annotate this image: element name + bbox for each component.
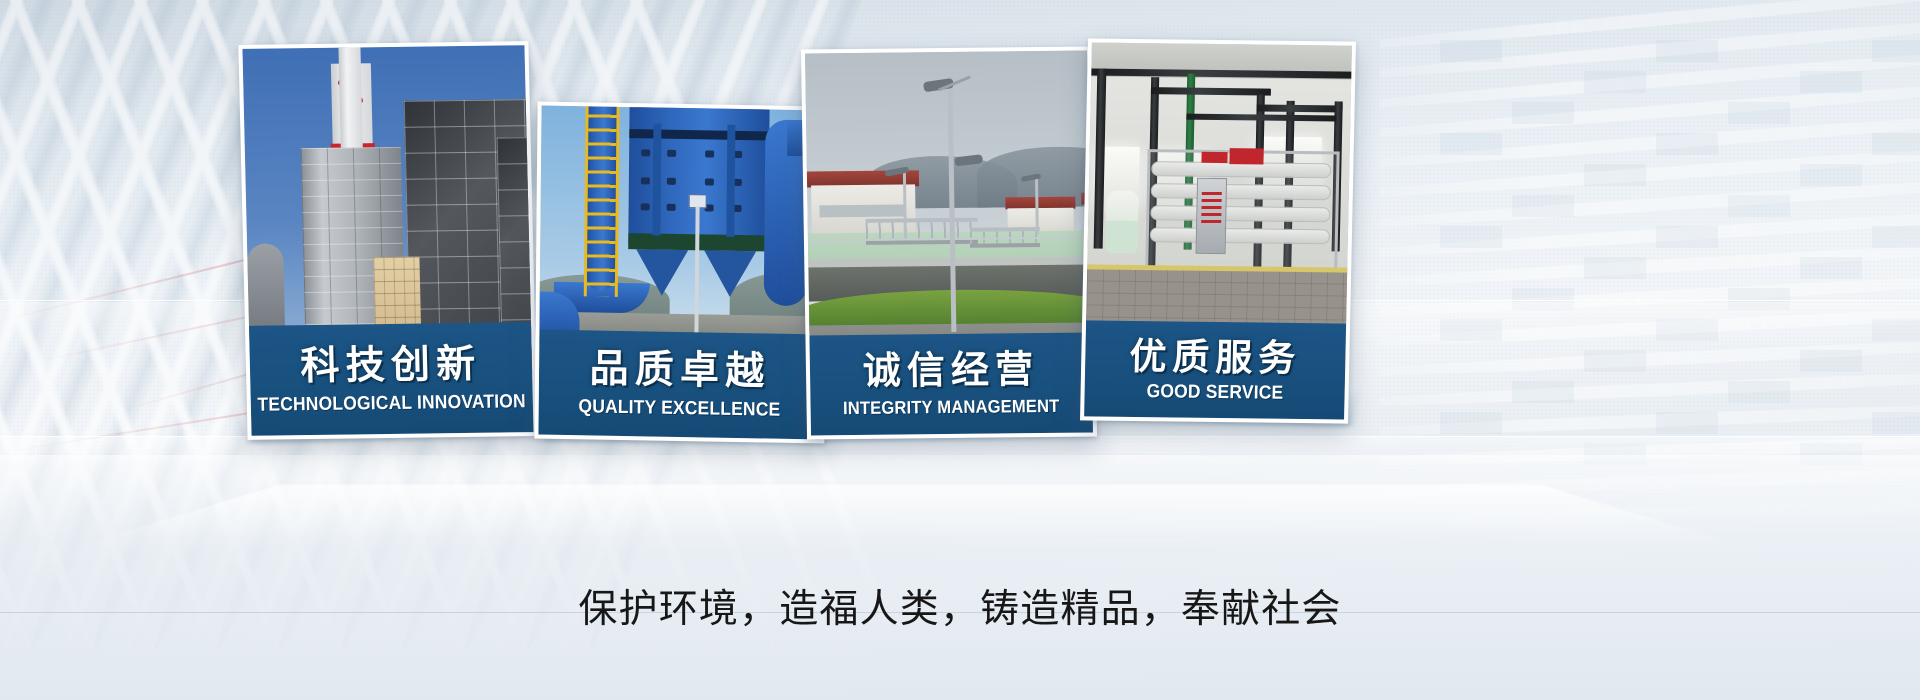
feature-card-good-service[interactable]: 优质服务 GOOD SERVICE bbox=[1080, 38, 1356, 423]
card-label-en: INTEGRITY MANAGEMENT bbox=[843, 397, 1060, 417]
card-label-cn: 科技创新 bbox=[300, 344, 482, 385]
card-label-en: GOOD SERVICE bbox=[1146, 382, 1283, 403]
card-label-en: QUALITY EXCELLENCE bbox=[579, 397, 781, 420]
card-label-en: TECHNOLOGICAL INNOVATION bbox=[257, 392, 526, 415]
feature-card-quality-excellence[interactable]: 品质卓越 QUALITY EXCELLENCE bbox=[534, 101, 827, 443]
card-label-bar: 科技创新 TECHNOLOGICAL INNOVATION bbox=[249, 322, 534, 436]
card-label-cn: 品质卓越 bbox=[589, 349, 770, 391]
feature-card-technological-innovation[interactable]: 科技创新 TECHNOLOGICAL INNOVATION bbox=[238, 41, 537, 440]
card-label-bar: 品质卓越 QUALITY EXCELLENCE bbox=[538, 330, 821, 440]
feature-card-integrity-management[interactable]: 诚信经营 INTEGRITY MANAGEMENT bbox=[801, 47, 1097, 440]
card-label-cn: 优质服务 bbox=[1129, 337, 1301, 376]
card-label-cn: 诚信经营 bbox=[863, 351, 1040, 391]
banner-tagline: 保护环境，造福人类，铸造精品，奉献社会 bbox=[0, 578, 1920, 634]
card-label-bar: 优质服务 GOOD SERVICE bbox=[1084, 320, 1346, 419]
card-label-bar: 诚信经营 INTEGRITY MANAGEMENT bbox=[809, 333, 1093, 436]
promo-banner: 科技创新 TECHNOLOGICAL INNOVATION bbox=[0, 0, 1920, 700]
